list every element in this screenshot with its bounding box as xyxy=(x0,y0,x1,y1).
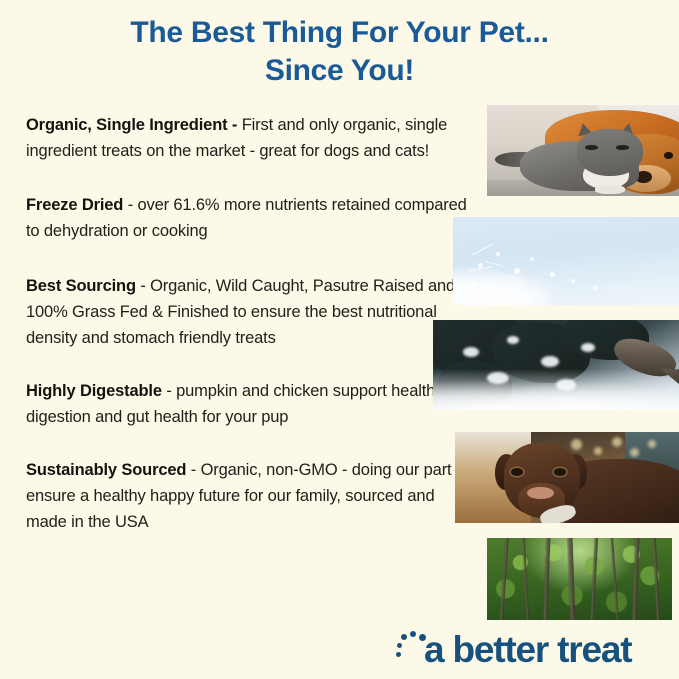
page-title-line-1: The Best Thing For Your Pet... xyxy=(130,16,548,49)
feature-lead-label: Sustainably Sourced xyxy=(26,461,191,479)
feature-lead-label: Freeze Dried xyxy=(26,196,128,214)
feature-highly-digestable: Highly Digestable - pumpkin and chicken … xyxy=(26,378,470,430)
feature-sustainably-sourced: Sustainably Sourced - Organic, non-GMO -… xyxy=(26,457,470,535)
feature-list: Organic, Single Ingredient - First and o… xyxy=(26,112,470,552)
feature-lead-label: Best Sourcing xyxy=(26,277,140,295)
frozen-ice-crystals-photo xyxy=(453,217,679,305)
infographic-page: The Best Thing For Your Pet... Since You… xyxy=(0,0,679,679)
feature-lead-label: Organic, Single Ingredient - xyxy=(26,116,242,134)
page-title-line-2: Since You! xyxy=(0,52,679,90)
brand-wordmark: a better treat xyxy=(424,630,631,670)
feature-lead-label: Highly Digestable xyxy=(26,382,166,400)
brand-logo[interactable]: a better treat xyxy=(396,630,631,670)
chocolate-labrador-photo xyxy=(455,432,679,523)
salmon-leaping-waterfall-photo xyxy=(433,320,679,410)
feature-organic-single-ingredient: Organic, Single Ingredient - First and o… xyxy=(26,112,470,164)
green-forest-canopy-photo xyxy=(487,538,672,620)
page-title: The Best Thing For Your Pet... Since You… xyxy=(0,14,679,90)
feature-best-sourcing: Best Sourcing - Organic, Wild Caught, Pa… xyxy=(26,273,470,351)
cat-and-golden-retriever-photo xyxy=(487,105,679,196)
paw-print-icon xyxy=(396,630,426,670)
feature-freeze-dried: Freeze Dried - over 61.6% more nutrients… xyxy=(26,192,470,244)
